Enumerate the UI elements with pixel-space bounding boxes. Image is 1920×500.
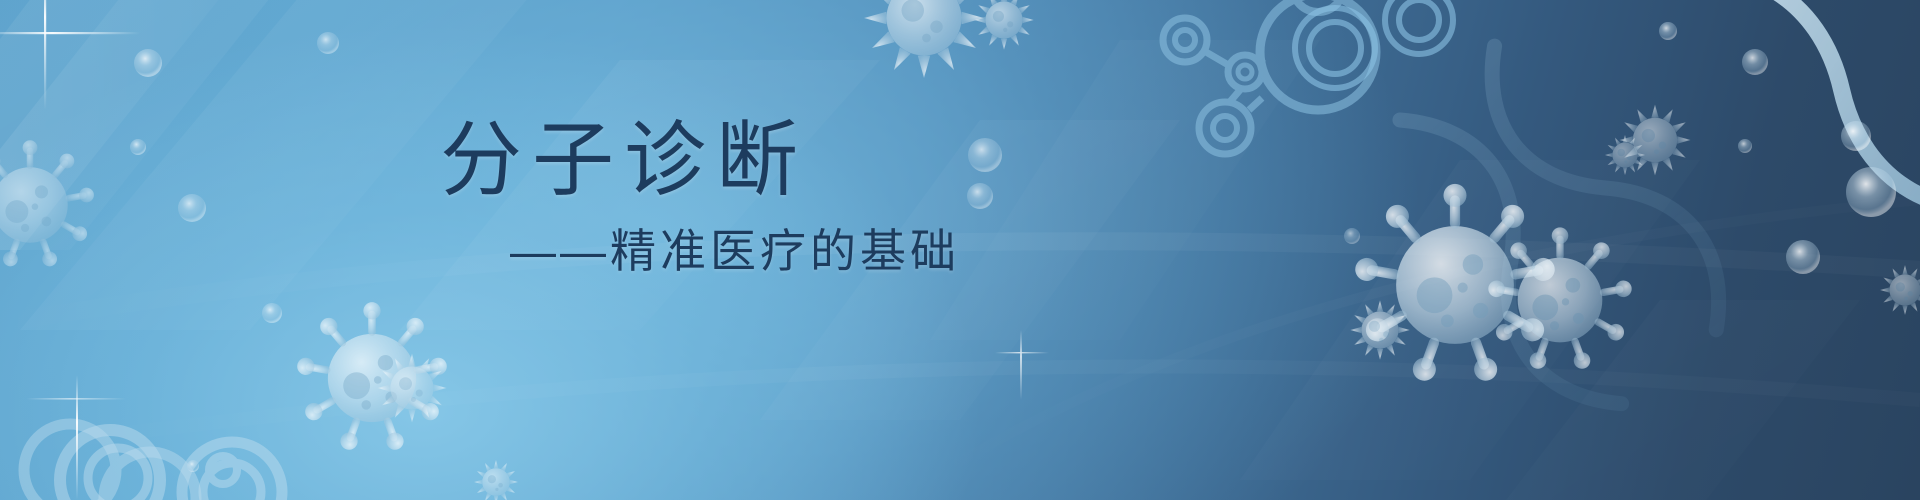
- sparkle-glint: [26, 375, 126, 500]
- headline-block: 分子诊断 ——精准医疗的基础: [440, 120, 1140, 340]
- sparkle-glint: [0, 0, 140, 110]
- sparkle-glint: [995, 330, 1049, 400]
- page-subtitle: ——精准医疗的基础: [440, 228, 960, 274]
- page-title: 分子诊断: [440, 120, 1140, 202]
- banner-molecular-diagnostics: 分子诊断 ——精准医疗的基础: [0, 0, 1920, 500]
